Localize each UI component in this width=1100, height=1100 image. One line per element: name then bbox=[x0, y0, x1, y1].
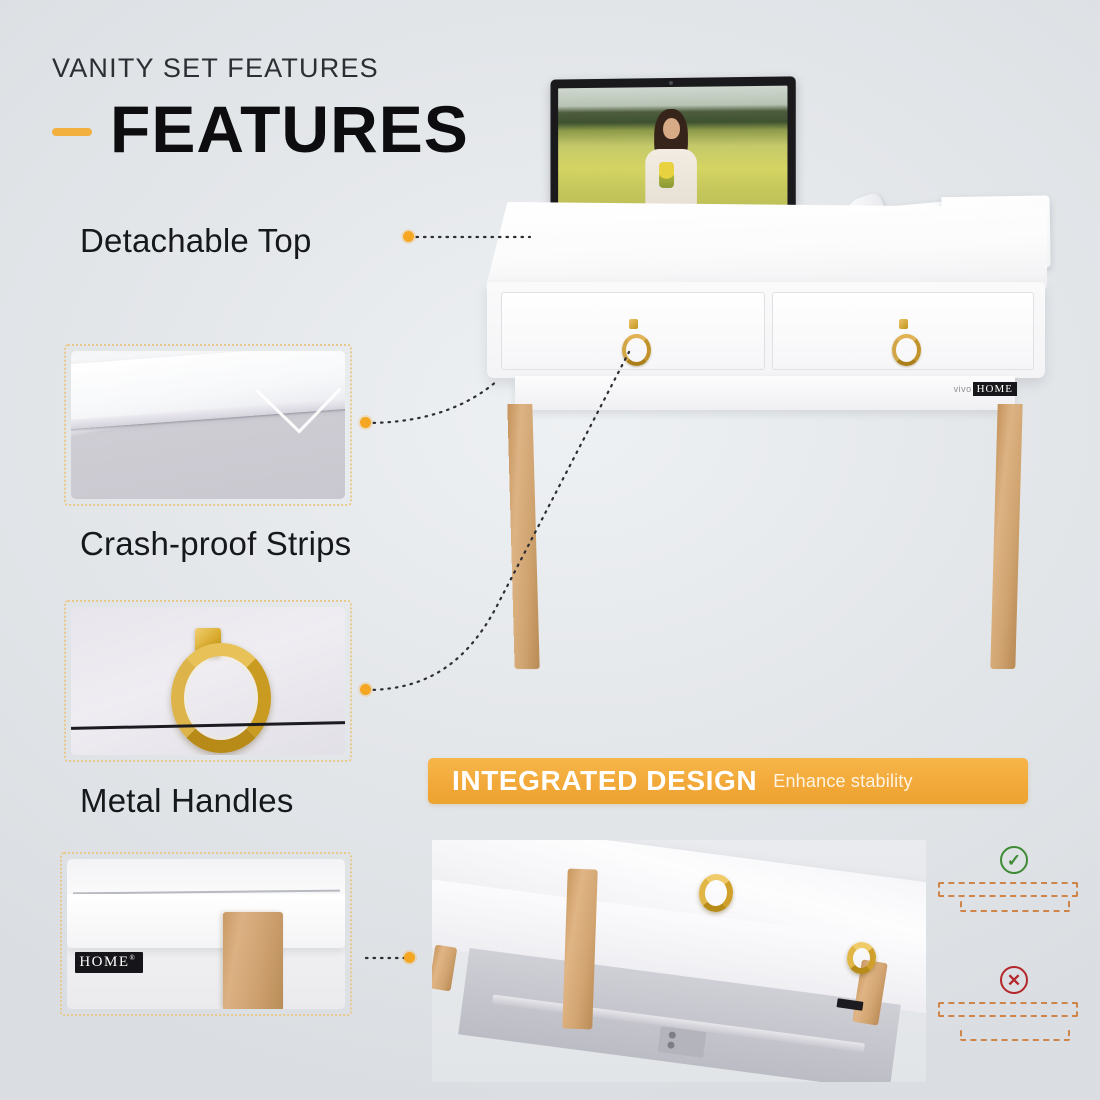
anchor-dot-detachable-top bbox=[403, 231, 414, 242]
underside-leg-middle bbox=[563, 869, 599, 1030]
underside-leg-far bbox=[432, 945, 457, 991]
gold-ring-icon bbox=[171, 643, 271, 753]
title-accent-dash bbox=[52, 128, 92, 136]
drawer-ring-handle-icon[interactable] bbox=[892, 334, 921, 366]
comparison-bad: ✕ bbox=[934, 966, 1094, 1041]
comparison-bad-gap bbox=[934, 1017, 1094, 1026]
eyebrow-text: VANITY SET FEATURES bbox=[52, 53, 379, 84]
infographic-page: VANITY SET FEATURES FEATURES Detachable … bbox=[0, 0, 1100, 1100]
wallpaper-flowers bbox=[659, 162, 674, 188]
laptop-wallpaper-image bbox=[558, 86, 787, 220]
comparison-good: ✓ bbox=[934, 846, 1094, 912]
photo-gold-ring-handle bbox=[71, 607, 345, 755]
inset-photo-leg-joint: HOME® bbox=[60, 852, 352, 1016]
page-title: FEATURES bbox=[52, 96, 469, 162]
photo-leg-attachment-closeup: HOME® bbox=[67, 859, 345, 1009]
desk-apron bbox=[515, 376, 1015, 410]
anchor-dot-metal-handles bbox=[360, 684, 371, 695]
title-text: FEATURES bbox=[110, 96, 469, 162]
desk-tabletop bbox=[485, 202, 1047, 290]
desk-leg-left bbox=[507, 404, 539, 669]
drawer-handle-mount bbox=[899, 319, 908, 329]
cross-icon: ✕ bbox=[1000, 966, 1028, 994]
anchor-dot-crash-proof-strips bbox=[360, 417, 371, 428]
laptop-webcam-icon bbox=[669, 81, 673, 85]
brand-prefix: vivo bbox=[954, 384, 972, 394]
comparison-good-top-bar bbox=[938, 882, 1078, 897]
banner-subtitle: Enhance stability bbox=[773, 771, 912, 792]
brand-name: HOME bbox=[973, 382, 1017, 396]
product-brand-badge: vivo HOME bbox=[954, 382, 1017, 396]
desk-leg-right bbox=[990, 404, 1022, 669]
drawer-handle-mount bbox=[629, 319, 638, 329]
drawer-left[interactable] bbox=[501, 292, 765, 370]
banner-title: INTEGRATED DESIGN bbox=[452, 765, 757, 797]
anchor-dot-leg-joint bbox=[404, 952, 415, 963]
drawer-right[interactable] bbox=[772, 292, 1034, 370]
feature-label-detachable-top: Detachable Top bbox=[80, 222, 312, 260]
feature-label-metal-handles: Metal Handles bbox=[80, 782, 294, 820]
brand-chip: HOME® bbox=[75, 952, 143, 973]
desk-apron-panel bbox=[67, 894, 345, 948]
wooden-leg bbox=[223, 912, 283, 1010]
underside-metal-bracket bbox=[658, 1026, 707, 1058]
check-icon: ✓ bbox=[1000, 846, 1028, 874]
photo-crash-proof-strip-closeup bbox=[71, 351, 345, 499]
brand-registered-mark: ® bbox=[130, 954, 137, 962]
drawer-ring-handle-icon[interactable] bbox=[622, 334, 651, 366]
product-photo-desk: lenovo vivo bbox=[455, 60, 1075, 690]
inset-photo-crash-proof-strips bbox=[64, 344, 352, 506]
comparison-bad-bottom-bar bbox=[960, 1026, 1070, 1041]
comparison-bad-top-bar bbox=[938, 1002, 1078, 1017]
integrated-design-banner: INTEGRATED DESIGN Enhance stability bbox=[428, 758, 1028, 804]
inset-photo-metal-handle bbox=[64, 600, 352, 762]
feature-label-crash-proof-strips: Crash-proof Strips bbox=[80, 525, 351, 563]
wallpaper-person-face bbox=[663, 118, 680, 139]
desk-drawer-housing bbox=[487, 282, 1045, 378]
photo-desk-underside bbox=[432, 840, 926, 1082]
comparison-good-bottom-bar bbox=[960, 897, 1070, 912]
brand-chip-text: HOME bbox=[79, 954, 129, 970]
